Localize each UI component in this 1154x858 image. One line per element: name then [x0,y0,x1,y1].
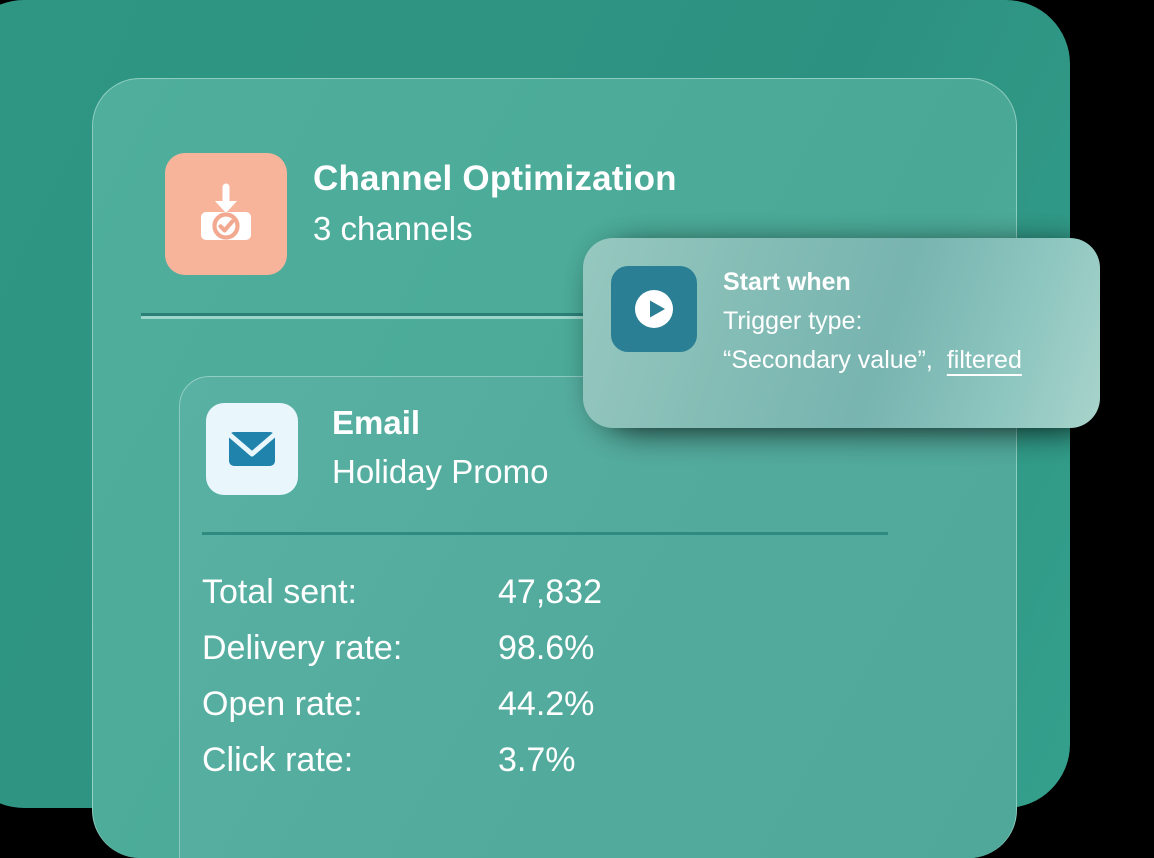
stat-row-click-rate: Click rate: 3.7% [202,741,682,797]
stat-row-delivery-rate: Delivery rate: 98.6% [202,629,682,685]
stats-divider [202,532,888,535]
stat-value: 3.7% [498,741,576,780]
download-check-icon [165,153,287,275]
screenshot-canvas: Channel Optimization 3 channels Email Ho… [0,0,1154,823]
email-channel-card: Email Holiday Promo Total sent: 47,832 D… [179,376,1017,858]
tooltip-text: Start when Trigger type: “Secondary valu… [723,266,1022,375]
card-header-text: Channel Optimization 3 channels [313,153,677,249]
tooltip-content: Start when Trigger type: “Secondary valu… [611,266,1022,375]
channel-subtitle: Holiday Promo [332,452,548,492]
trigger-tooltip[interactable]: Start when Trigger type: “Secondary valu… [583,238,1100,428]
stat-value: 47,832 [498,573,602,612]
tooltip-heading: Start when [723,268,1022,297]
channel-card: Channel Optimization 3 channels Email Ho… [92,78,1017,858]
stat-label: Total sent: [202,573,498,612]
stat-label: Open rate: [202,685,498,724]
stat-value: 98.6% [498,629,594,668]
page-title: Channel Optimization [313,159,677,198]
stat-label: Click rate: [202,741,498,780]
tooltip-filtered-link[interactable]: filtered [947,345,1022,375]
tooltip-trigger-value: “Secondary value”, [723,345,933,375]
email-channel-text: Email Holiday Promo [332,403,548,492]
tooltip-trigger-value-row: “Secondary value”, filtered [723,345,1022,375]
stat-row-open-rate: Open rate: 44.2% [202,685,682,741]
stats-list: Total sent: 47,832 Delivery rate: 98.6% … [202,573,682,797]
channel-title: Email [332,405,548,441]
email-icon [206,403,298,495]
email-channel-header: Email Holiday Promo [206,403,548,495]
play-circle-icon[interactable] [611,266,697,352]
stat-row-total-sent: Total sent: 47,832 [202,573,682,629]
stat-label: Delivery rate: [202,629,498,668]
stat-value: 44.2% [498,685,594,724]
tooltip-trigger-type-label: Trigger type: [723,306,1022,336]
